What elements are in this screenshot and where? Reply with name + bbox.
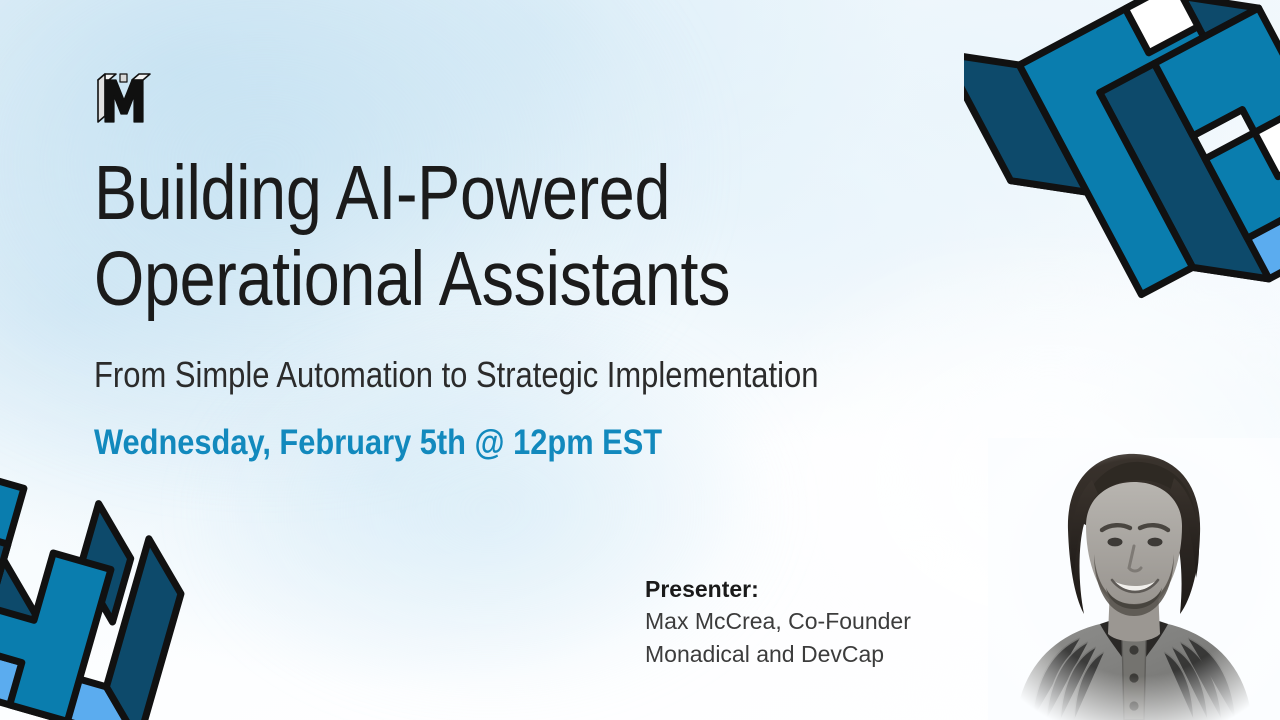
- page-title-line-1: Building AI-Powered: [94, 150, 833, 236]
- presenter-block: Presenter: Max McCrea, Co-Founder Monadi…: [645, 574, 1005, 671]
- presenter-name-role: Max McCrea, Co-Founder: [645, 605, 1005, 638]
- decorative-isometric-m-logo-top-right: [964, 0, 1280, 342]
- page-title: Building AI-Powered Operational Assistan…: [94, 150, 833, 322]
- page-title-line-2: Operational Assistants: [94, 236, 833, 322]
- presenter-companies: Monadical and DevCap: [645, 638, 1005, 671]
- presenter-photo: [988, 438, 1280, 720]
- webinar-title-slide: Building AI-Powered Operational Assistan…: [0, 0, 1280, 720]
- monadical-m-logo-icon: [92, 70, 156, 128]
- decorative-isometric-m-logo-bottom-left: [0, 450, 198, 720]
- presenter-label: Presenter:: [645, 574, 1005, 605]
- headline-block: Building AI-Powered Operational Assistan…: [94, 150, 974, 463]
- event-datetime: Wednesday, February 5th @ 12pm EST: [94, 396, 868, 463]
- page-subtitle: From Simple Automation to Strategic Impl…: [94, 322, 851, 396]
